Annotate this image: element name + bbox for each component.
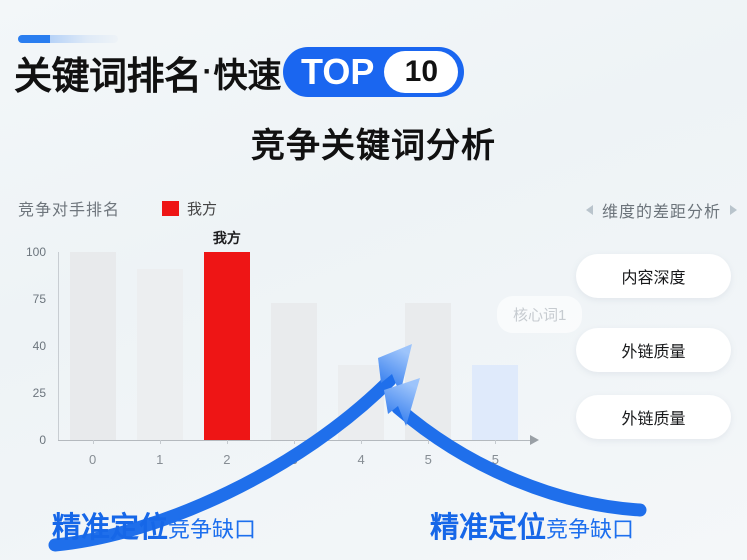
dimension-pill-2[interactable]: 外链质量 <box>576 395 731 439</box>
page-title: 竞争关键词分析 <box>0 118 747 167</box>
dimension-pill-label-0: 内容深度 <box>621 264 685 288</box>
plot-area: 01我方23455 <box>59 252 529 440</box>
caption-left-strong: 精准定位 <box>52 504 168 546</box>
bar[interactable] <box>70 252 116 440</box>
x-tick-label: 5 <box>405 452 451 467</box>
legend-swatch-icon <box>162 201 179 216</box>
dimension-gap-title: 维度的差距分析 <box>602 198 721 222</box>
x-tick-mark <box>160 440 161 444</box>
triangle-right-icon <box>730 205 737 215</box>
headline: 关键词排名 · 快速 <box>14 46 282 98</box>
accent-bar-solid <box>18 35 50 43</box>
dimension-gap-header: 维度的差距分析 <box>586 198 737 222</box>
headline-main: 关键词排名 <box>14 45 202 100</box>
y-tick-label: 0 <box>39 433 46 447</box>
dimension-pill-label-2: 外链质量 <box>621 405 685 429</box>
caption-right-weak: 竞争缺口 <box>546 512 634 544</box>
x-tick-mark <box>428 440 429 444</box>
y-tick-label: 75 <box>33 292 46 306</box>
chart-title: 竞争对手排名 <box>18 196 120 220</box>
bar-chart: 1007540250 01我方23455 <box>14 248 534 453</box>
legend-label: 我方 <box>187 198 217 219</box>
bar-highlighted[interactable]: 我方 <box>204 252 250 440</box>
caption-right-strong: 精准定位 <box>430 504 546 546</box>
caption-right: 精准定位 竞争缺口 <box>430 504 634 546</box>
x-tick-label: 2 <box>204 452 250 467</box>
bar[interactable] <box>405 303 451 440</box>
x-tick-mark <box>93 440 94 444</box>
accent-bar <box>18 35 118 43</box>
y-tick-label: 100 <box>26 245 46 259</box>
chart-header: 竞争对手排名 我方 <box>18 196 217 220</box>
x-tick-label: 3 <box>271 452 317 467</box>
triangle-left-icon <box>586 205 593 215</box>
x-axis-arrow-icon <box>530 435 539 445</box>
caption-left: 精准定位 竞争缺口 <box>52 504 256 546</box>
bar[interactable] <box>472 365 518 440</box>
dimension-pill-label-1: 外链质量 <box>621 338 685 362</box>
top-badge-word: TOP <box>301 54 374 90</box>
accent-bar-fade <box>50 35 118 43</box>
x-tick-mark <box>361 440 362 444</box>
dimension-pill-0[interactable]: 内容深度 <box>576 254 731 298</box>
x-tick-label: 0 <box>70 452 116 467</box>
y-tick-label: 40 <box>33 339 46 353</box>
x-tick-label: 4 <box>338 452 384 467</box>
x-tick-mark <box>227 440 228 444</box>
x-tick-label: 1 <box>137 452 183 467</box>
bar[interactable] <box>271 303 317 440</box>
x-tick-label: 5 <box>472 452 518 467</box>
y-axis: 1007540250 <box>14 248 54 440</box>
y-tick-label: 25 <box>33 386 46 400</box>
bar[interactable] <box>338 365 384 440</box>
ghost-tag-core-keyword: 核心词1 <box>497 296 582 333</box>
dimension-pill-1[interactable]: 外链质量 <box>576 328 731 372</box>
top-badge-number-pill: 10 <box>384 51 458 93</box>
top-badge: TOP 10 <box>283 47 464 97</box>
chart-legend: 我方 <box>162 198 217 219</box>
poster-canvas: 关键词排名 · 快速 TOP 10 竞争关键词分析 竞争对手排名 我方 维度的差… <box>0 0 747 560</box>
headline-sub: 快速 <box>214 48 282 97</box>
headline-dot: · <box>203 55 213 89</box>
caption-left-weak: 竞争缺口 <box>168 512 256 544</box>
x-tick-mark <box>495 440 496 444</box>
bar[interactable] <box>137 269 183 440</box>
top-badge-number: 10 <box>405 55 438 89</box>
bar-label-highlighted: 我方 <box>198 228 256 248</box>
x-tick-mark <box>294 440 295 444</box>
